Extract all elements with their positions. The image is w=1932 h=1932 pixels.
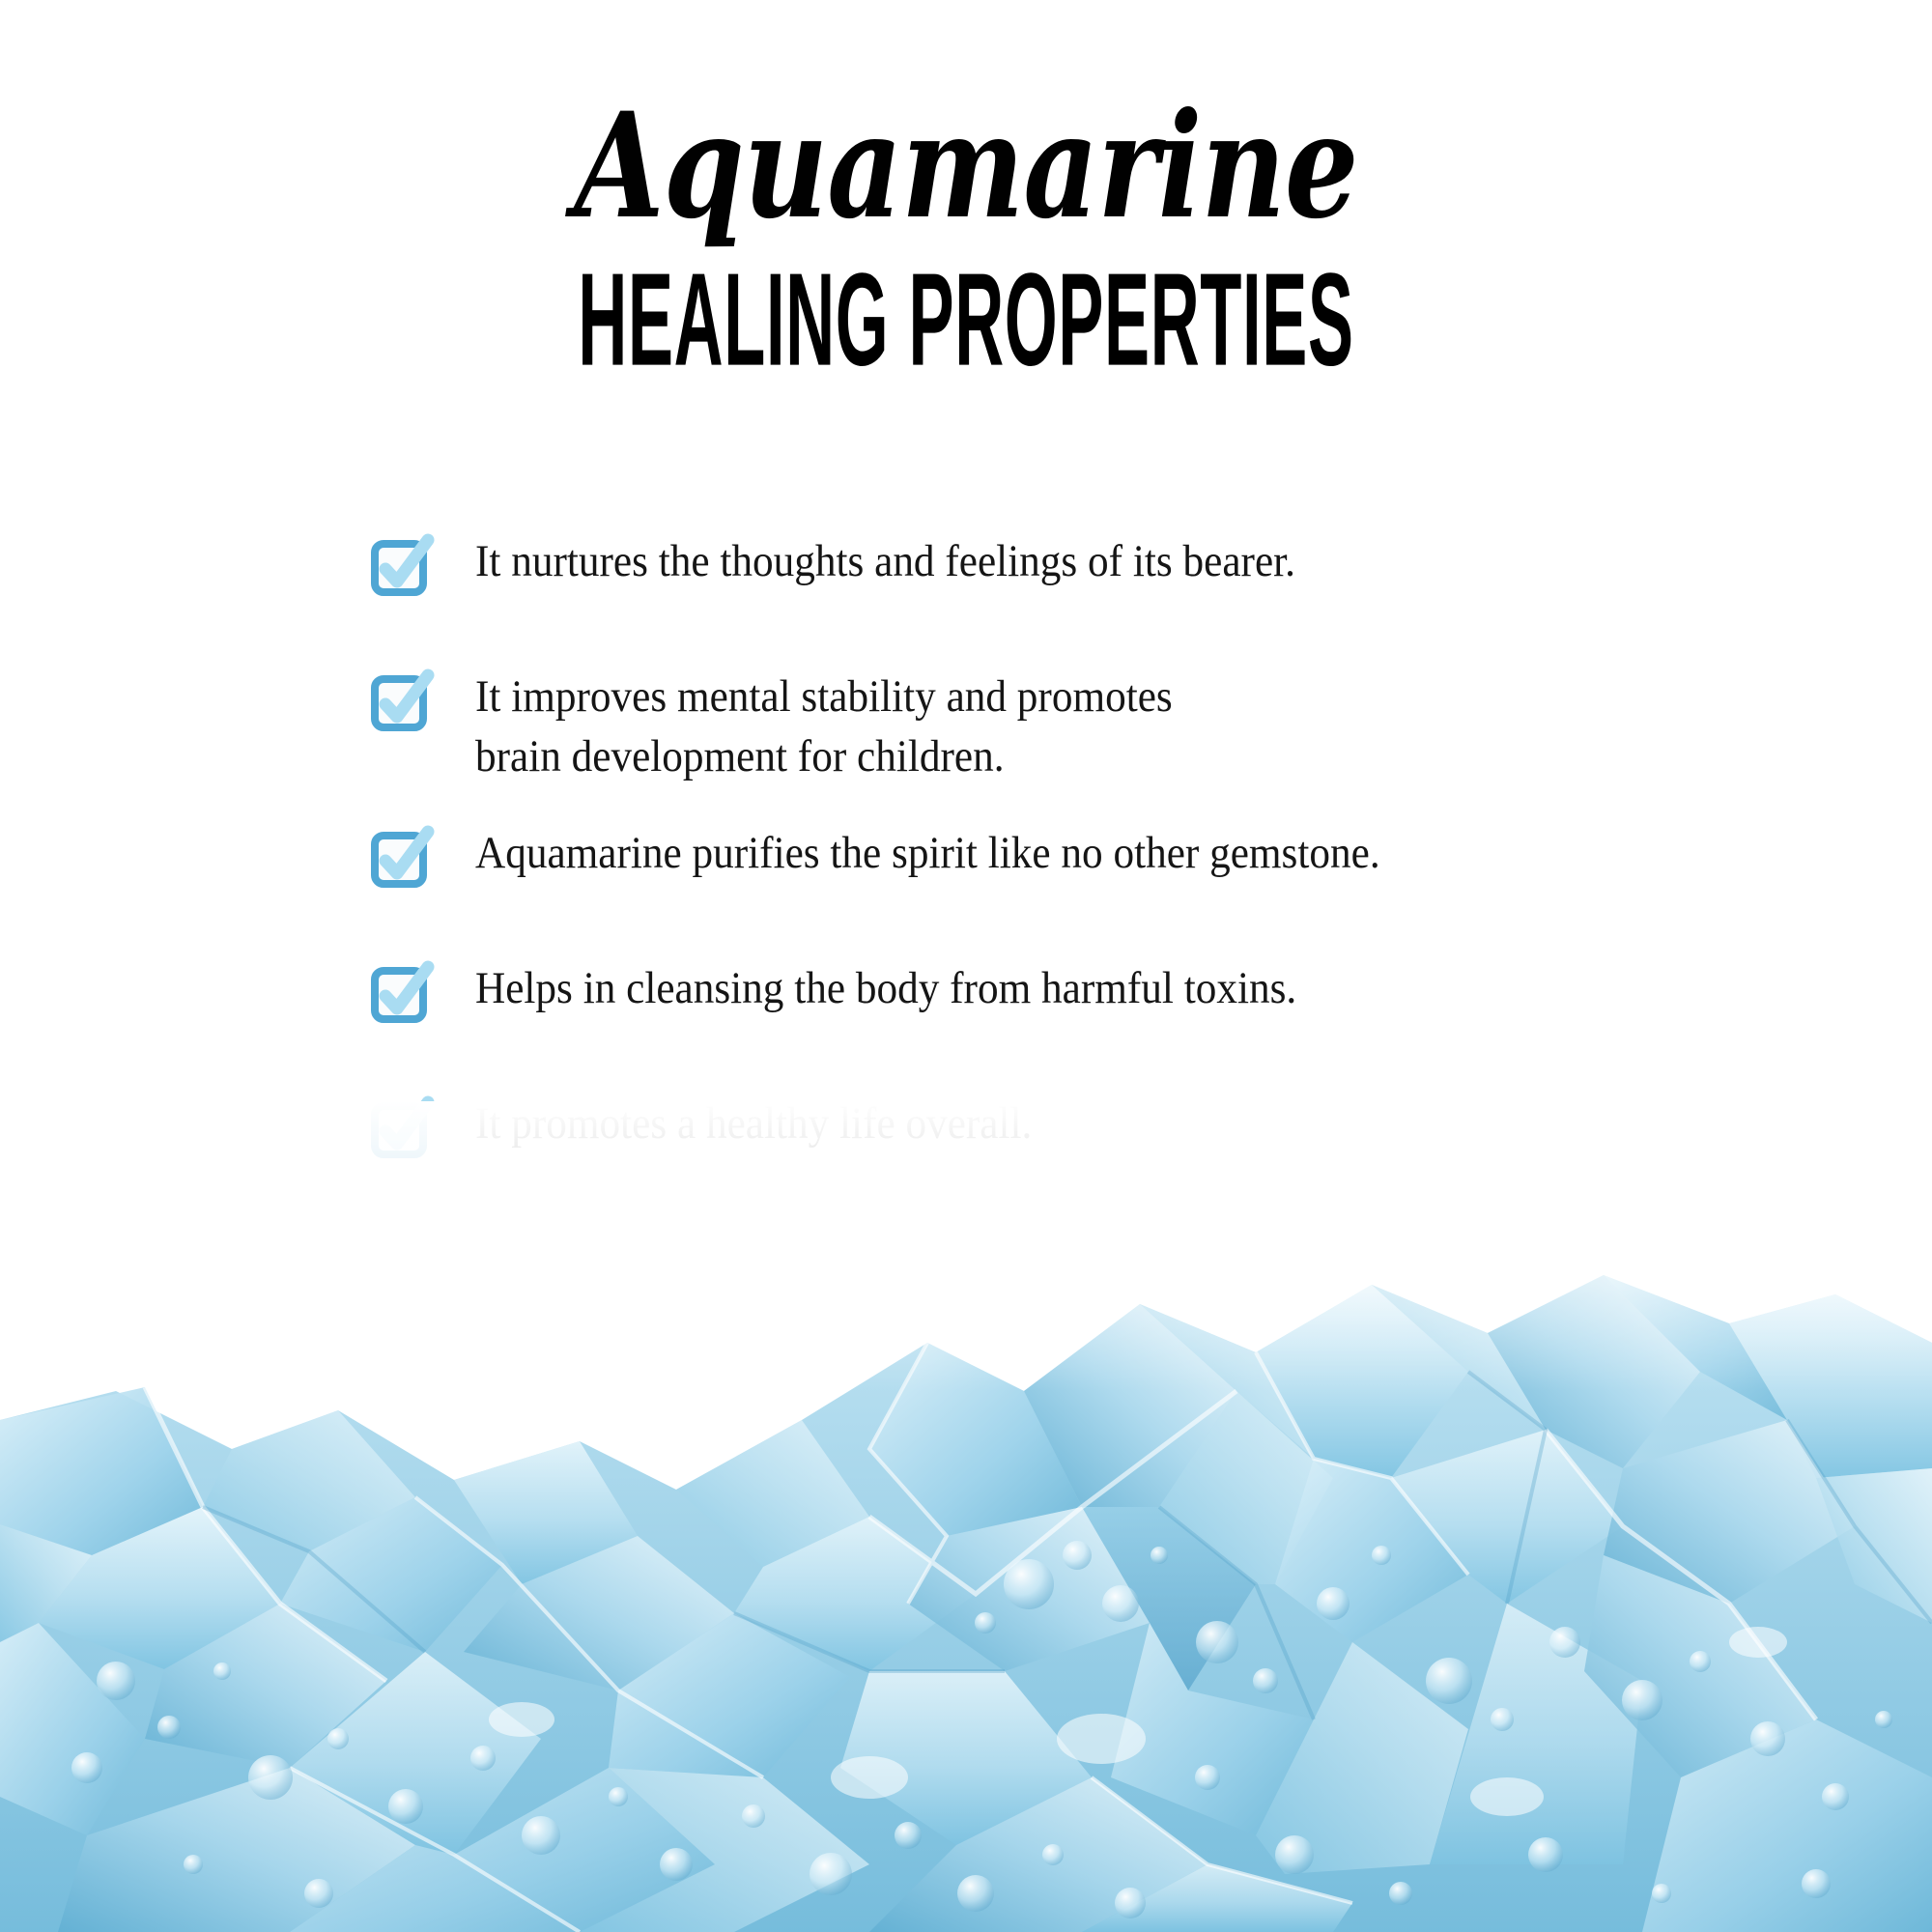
list-item-label: It nurtures the thoughts and feelings of… <box>475 529 1295 591</box>
page-title-script: Aquamarine <box>193 93 1739 241</box>
ice-cubes-photo <box>0 1101 1932 1932</box>
list-item-label: It improves mental stability and promote… <box>475 665 1173 786</box>
checkbox-checked-icon <box>372 964 430 1022</box>
list-item: It improves mental stability and promote… <box>372 665 1744 786</box>
header-block: Aquamarine HEALING PROPERTIES <box>0 93 1932 362</box>
checkbox-checked-icon <box>372 672 430 730</box>
poster-canvas: Aquamarine HEALING PROPERTIES It nurture… <box>0 0 1932 1932</box>
list-item-label: Aquamarine purifies the spirit like no o… <box>475 821 1380 883</box>
list-item: Aquamarine purifies the spirit like no o… <box>372 821 1744 887</box>
list-item: Helps in cleansing the body from harmful… <box>372 956 1744 1022</box>
list-item: It nurtures the thoughts and feelings of… <box>372 529 1744 595</box>
checkbox-checked-icon <box>372 829 430 887</box>
checkbox-checked-icon <box>372 537 430 595</box>
list-item-label: Helps in cleansing the body from harmful… <box>475 956 1296 1018</box>
page-title-subheading: HEALING PROPERTIES <box>357 254 1575 386</box>
